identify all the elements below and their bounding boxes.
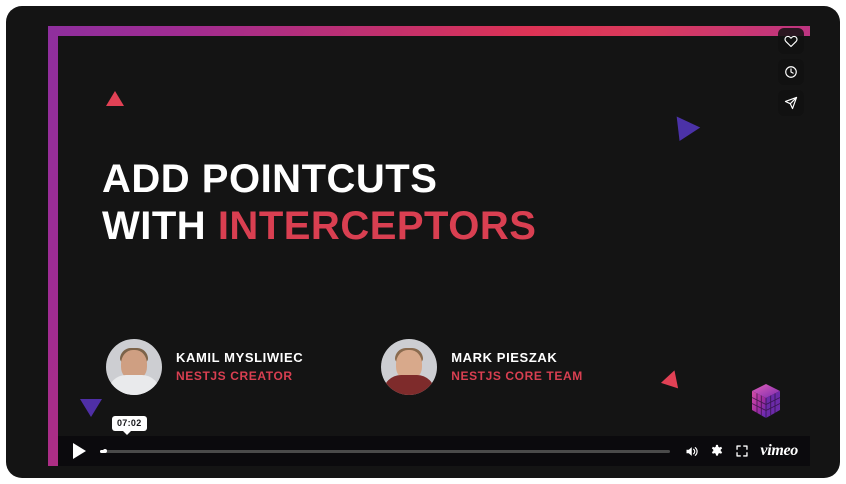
speaker-item: KAMIL MYSLIWIEC NESTJS CREATOR — [106, 339, 303, 395]
play-button[interactable] — [58, 436, 100, 466]
title-line-2: WITH INTERCEPTORS — [102, 203, 722, 250]
clock-icon — [784, 65, 798, 79]
speaker-name: MARK PIESZAK — [451, 351, 583, 365]
volume-button[interactable] — [684, 444, 699, 459]
speaker-role: NESTJS CREATOR — [176, 370, 303, 383]
slide-title: ADD POINTCUTS WITH INTERCEPTORS — [102, 156, 722, 250]
time-tooltip: 07:02 — [112, 416, 147, 431]
settings-button[interactable] — [710, 444, 724, 458]
triangle-red-top-left-icon — [106, 91, 124, 106]
heart-icon — [784, 34, 798, 48]
avatar-body — [383, 375, 435, 395]
nestjs-cube-logo — [750, 383, 782, 419]
player-control-bar: 07:02 — [58, 436, 810, 466]
speaker-list: KAMIL MYSLIWIEC NESTJS CREATOR MARK PIES… — [106, 339, 583, 395]
video-stage[interactable]: ADD POINTCUTS WITH INTERCEPTORS KAMIL MY… — [58, 36, 810, 466]
triangle-red-bottom-right-icon — [661, 368, 683, 389]
share-icon — [784, 96, 798, 110]
fullscreen-button[interactable] — [735, 444, 749, 458]
video-player-frame: ADD POINTCUTS WITH INTERCEPTORS KAMIL MY… — [6, 6, 840, 478]
like-button[interactable] — [778, 28, 804, 54]
title-line-1: ADD POINTCUTS — [102, 156, 722, 203]
fullscreen-icon — [735, 444, 749, 458]
vimeo-logo[interactable]: vimeo — [760, 442, 798, 460]
progress-track[interactable] — [100, 450, 670, 453]
title-line-2-plain: WITH — [102, 204, 218, 248]
speaker-role: NESTJS CORE TEAM — [451, 370, 583, 383]
triangle-purple-bottom-left-icon — [80, 399, 102, 417]
action-button-group — [778, 28, 804, 116]
progress-bar[interactable]: 07:02 — [100, 436, 670, 466]
avatar — [106, 339, 162, 395]
speaker-name: KAMIL MYSLIWIEC — [176, 351, 303, 365]
watch-later-button[interactable] — [778, 59, 804, 85]
avatar-body — [108, 375, 160, 395]
gear-icon — [710, 444, 724, 458]
triangle-purple-right-icon — [668, 116, 700, 146]
volume-icon — [684, 444, 699, 459]
title-line-2-accent: INTERCEPTORS — [218, 204, 537, 248]
play-icon — [73, 443, 86, 459]
share-button[interactable] — [778, 90, 804, 116]
avatar — [381, 339, 437, 395]
right-controls: vimeo — [670, 442, 810, 460]
speaker-item: MARK PIESZAK NESTJS CORE TEAM — [381, 339, 583, 395]
progress-handle[interactable] — [103, 449, 107, 453]
